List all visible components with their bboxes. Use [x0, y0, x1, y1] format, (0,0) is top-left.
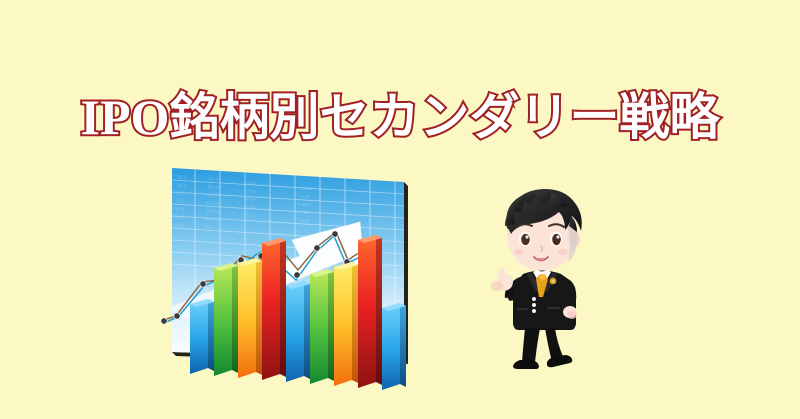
svg-text:56.3: 56.3 [175, 206, 184, 212]
bar-chart-illustration: 92.3432.28 22.452.29% 34.3405.45 17.567.… [150, 160, 420, 395]
svg-text:2.29%: 2.29% [299, 186, 312, 192]
svg-text:4.36%: 4.36% [298, 202, 311, 208]
shoes [513, 355, 572, 369]
image-canvas: IPO銘柄別セカンダリー戦略 [0, 0, 800, 419]
svg-text:34.3: 34.3 [177, 182, 186, 188]
title-text: IPO銘柄別セカンダリー戦略 [81, 92, 720, 142]
svg-text:36.2: 36.2 [176, 190, 185, 196]
svg-text:490.28: 490.28 [205, 208, 219, 214]
bar-2 [214, 263, 238, 376]
bar-8 [358, 235, 382, 388]
page-title: IPO銘柄別セカンダリー戦略 [0, 92, 800, 142]
svg-text:451.13: 451.13 [205, 216, 219, 222]
svg-text:17.56: 17.56 [245, 188, 257, 194]
svg-text:99.66: 99.66 [244, 204, 256, 210]
svg-text:414.69: 414.69 [206, 200, 220, 206]
svg-text:12.12: 12.12 [243, 212, 255, 218]
svg-text:38.1: 38.1 [174, 222, 183, 228]
svg-text:422.66: 422.66 [206, 192, 220, 198]
svg-text:5.90%: 5.90% [297, 218, 310, 224]
bar-5 [286, 281, 310, 382]
svg-text:3.72%: 3.72% [297, 210, 310, 216]
svg-text:95.53: 95.53 [244, 196, 256, 202]
svg-text:51.1: 51.1 [175, 214, 184, 220]
bar-1 [190, 299, 214, 374]
bar-4 [262, 238, 286, 380]
bar-9 [382, 303, 406, 390]
businessman-mascot [487, 182, 602, 377]
svg-text:32.1: 32.1 [176, 198, 185, 204]
svg-text:432.28: 432.28 [207, 176, 221, 182]
svg-text:4.51: 4.51 [204, 224, 213, 230]
bar-3 [238, 258, 262, 378]
svg-text:405.45: 405.45 [207, 184, 221, 190]
svg-text:7.12%: 7.12% [298, 194, 311, 200]
bar-7 [334, 262, 358, 386]
bar-6 [310, 269, 334, 384]
svg-text:22.45: 22.45 [245, 180, 257, 186]
svg-text:92.3: 92.3 [177, 174, 186, 180]
pointing-hand [491, 268, 513, 291]
